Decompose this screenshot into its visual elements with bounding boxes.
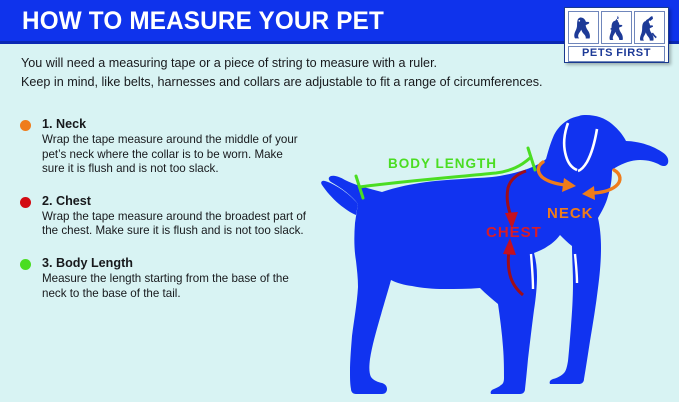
dog-howling-icon xyxy=(634,11,665,44)
step-body-length: 3. Body Length Measure the length starti… xyxy=(18,255,308,301)
logo-word-first: FIRST xyxy=(616,47,651,59)
intro-line-1: You will need a measuring tape or a piec… xyxy=(21,54,621,73)
how-to-measure-poster: HOW TO MEASURE YOUR PET xyxy=(0,0,679,402)
step-neck-body: Wrap the tape measure around the middle … xyxy=(42,133,308,177)
step-body-length-title: 3. Body Length xyxy=(42,255,308,271)
logo-silhouette-panels xyxy=(568,11,665,44)
step-neck-title: 1. Neck xyxy=(42,116,308,132)
page-title: HOW TO MEASURE YOUR PET xyxy=(22,7,384,36)
dog-silhouette-icon xyxy=(329,115,669,394)
measurement-steps-list: 1. Neck Wrap the tape measure around the… xyxy=(18,116,308,317)
dog-sitting-icon xyxy=(568,11,599,44)
dog-begging-icon xyxy=(601,11,632,44)
intro-line-2: Keep in mind, like belts, harnesses and … xyxy=(21,73,621,92)
step-chest-title: 2. Chest xyxy=(42,193,308,209)
bullet-chest-icon xyxy=(20,197,31,208)
dog-measurement-diagram: BODY LENGTH NECK CHEST xyxy=(296,108,679,402)
step-chest: 2. Chest Wrap the tape measure around th… xyxy=(18,193,308,239)
step-body-length-body: Measure the length starting from the bas… xyxy=(42,272,308,301)
label-neck: NECK xyxy=(547,205,594,222)
label-chest: CHEST xyxy=(486,224,542,241)
label-body-length: BODY LENGTH xyxy=(388,156,497,171)
bullet-body-length-icon xyxy=(20,259,31,270)
step-neck: 1. Neck Wrap the tape measure around the… xyxy=(18,116,308,177)
step-chest-body: Wrap the tape measure around the broades… xyxy=(42,210,308,239)
intro-text: You will need a measuring tape or a piec… xyxy=(21,54,621,92)
bullet-neck-icon xyxy=(20,120,31,131)
